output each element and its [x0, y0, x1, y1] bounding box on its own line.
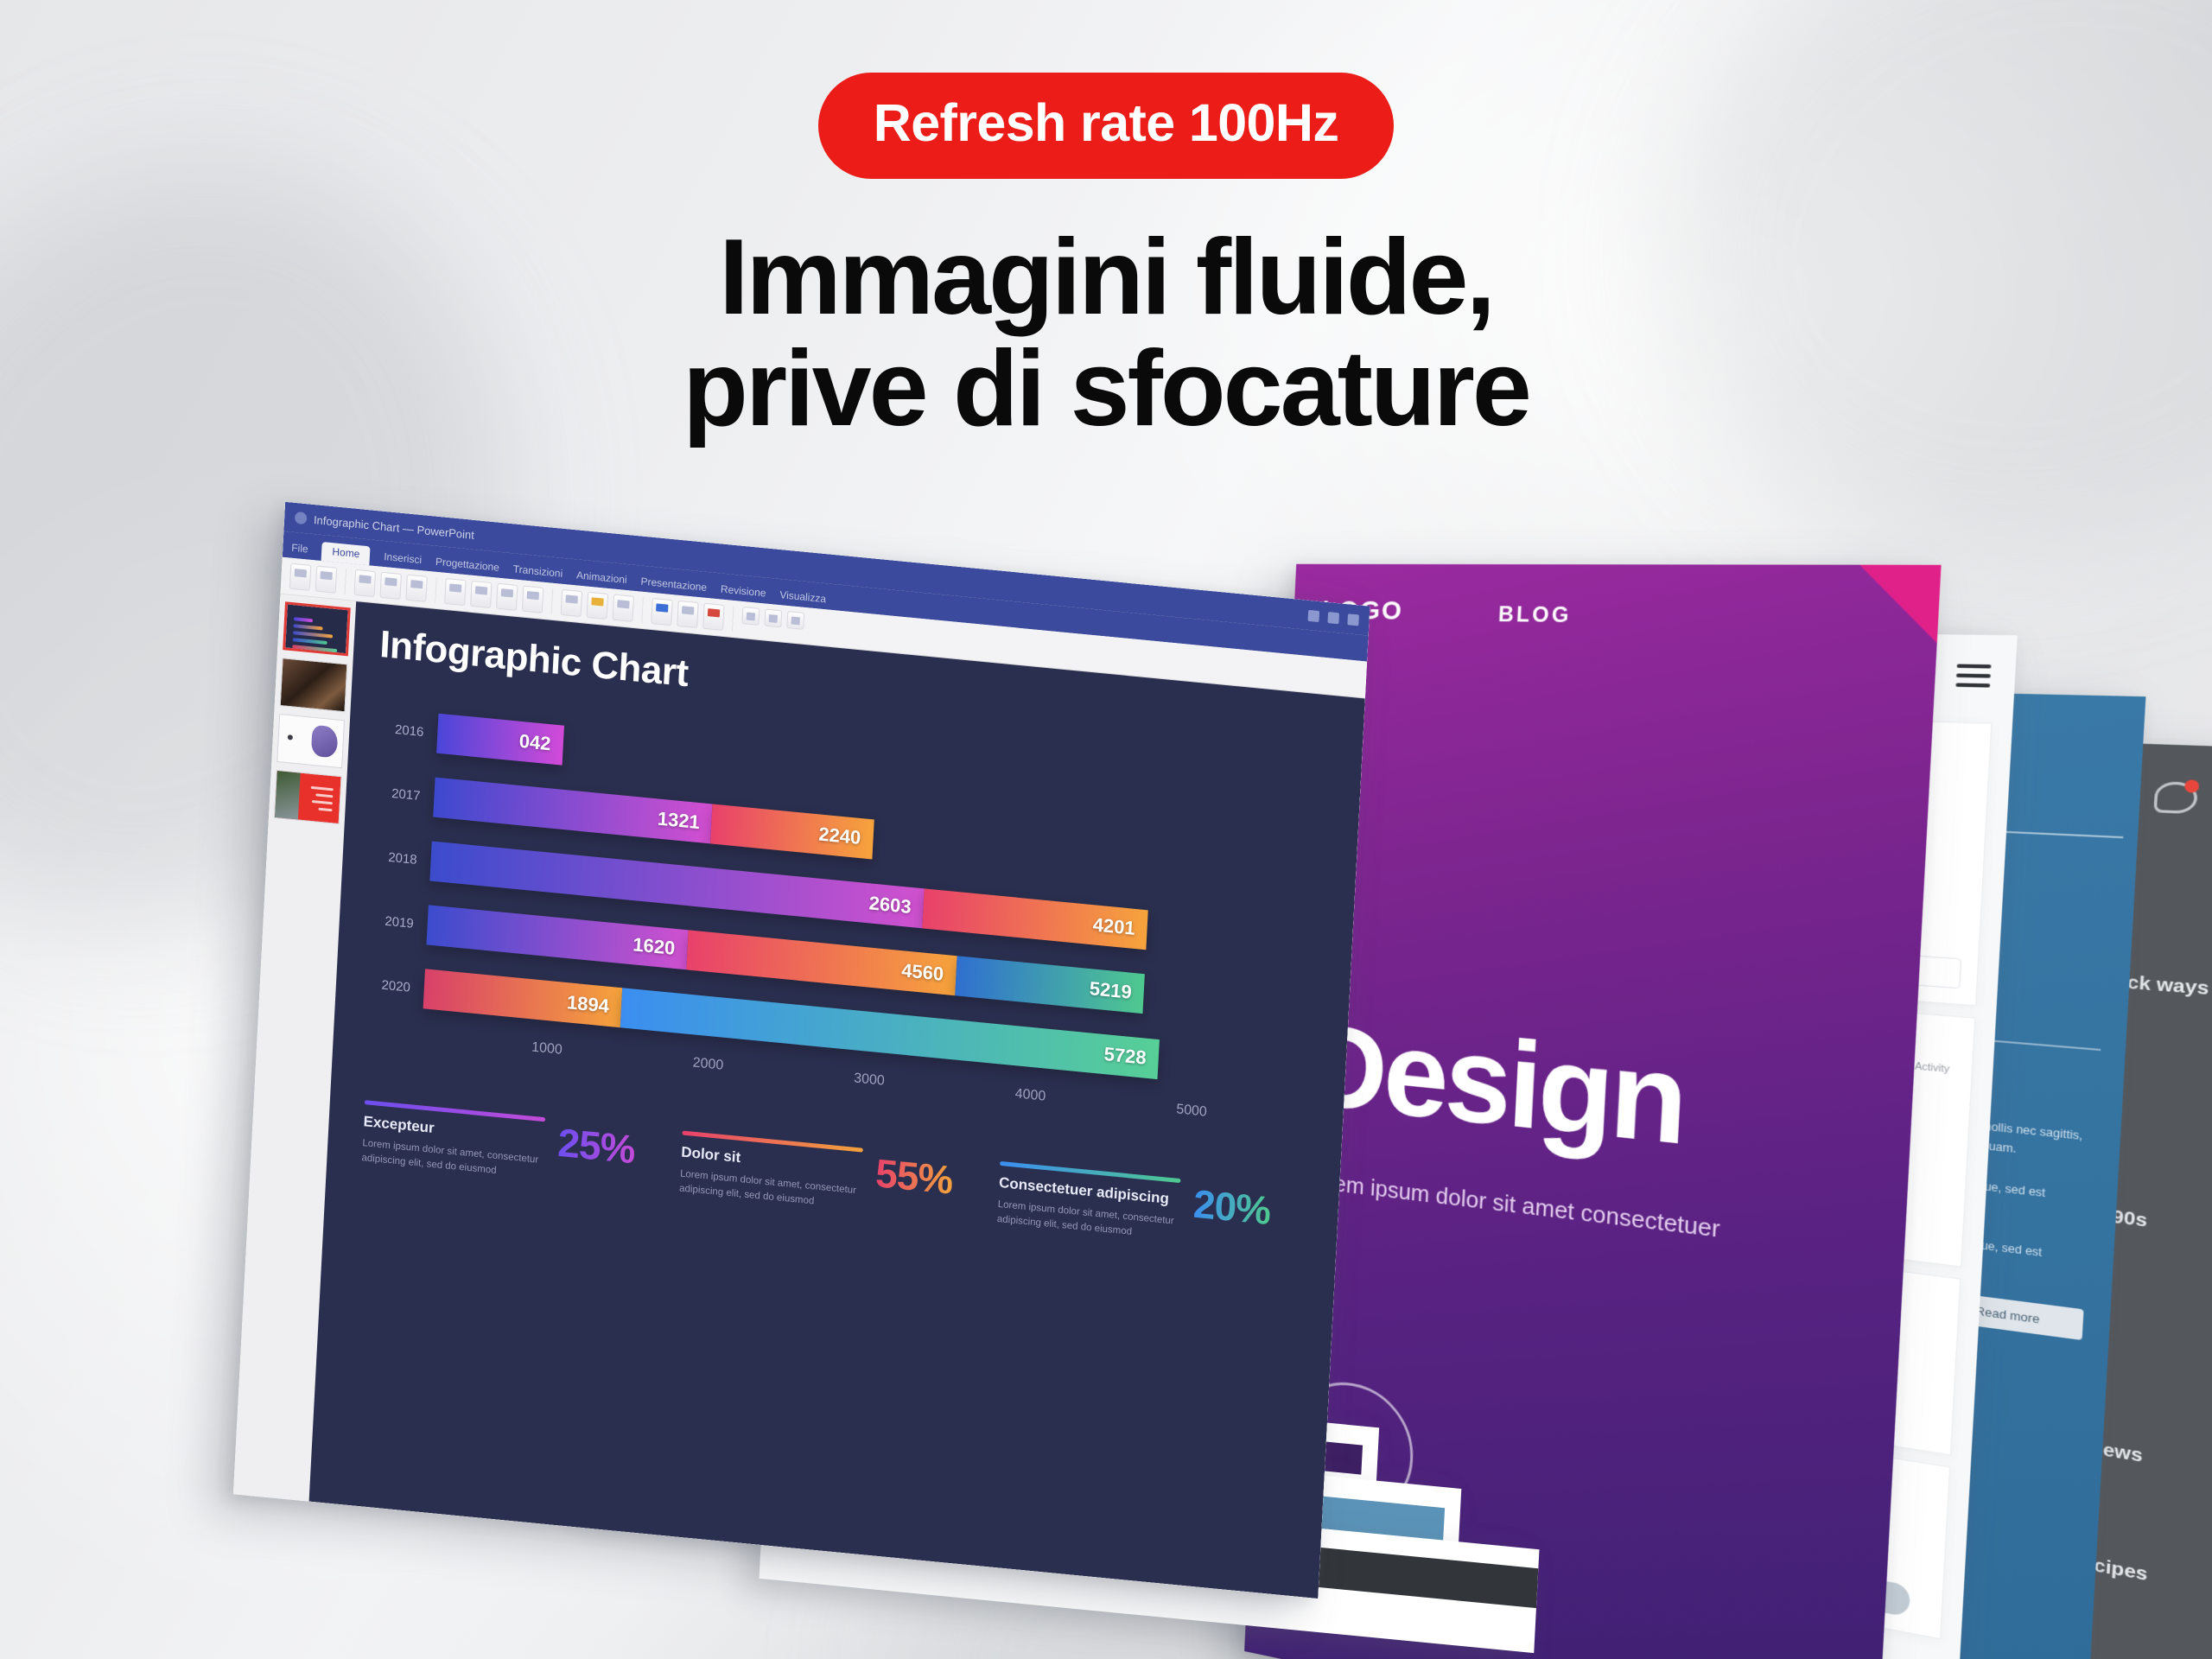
- cut-icon[interactable]: [315, 566, 337, 594]
- blog-hero-word: Design: [1303, 1009, 1688, 1159]
- bar-segment: 042: [436, 714, 563, 766]
- stat-percentage: 25%: [556, 1119, 636, 1173]
- headline-line-2: prive di sfocature: [0, 334, 2212, 445]
- shape-fill-icon[interactable]: [587, 592, 608, 620]
- y-axis-label: 2019: [365, 912, 429, 932]
- layout-icon[interactable]: [379, 572, 401, 600]
- shapes-icon[interactable]: [561, 589, 582, 617]
- stat-percentage: 20%: [1192, 1180, 1272, 1234]
- slide-thumbnail-2[interactable]: [280, 658, 348, 712]
- hero-header: Refresh rate 100Hz Immagini fluide, priv…: [0, 0, 2212, 445]
- blog-subtitle: Lorem ipsum dolor sit amet consectetuer: [1302, 1166, 1720, 1244]
- bar-value: 1321: [657, 807, 700, 834]
- tab-insert[interactable]: Inserisci: [384, 550, 423, 570]
- bar-value: 4201: [1092, 913, 1135, 940]
- minimize-icon[interactable]: [1308, 609, 1320, 621]
- bar-value: 042: [518, 730, 551, 755]
- screen-powerpoint[interactable]: Infographic Chart — PowerPoint File Home…: [233, 502, 1370, 1599]
- bar-value: 2240: [818, 823, 861, 849]
- ribbon-group-extra[interactable]: [741, 607, 813, 631]
- y-axis-label: 2016: [375, 720, 438, 741]
- slide-preview-photo: [281, 658, 347, 711]
- editor-body: Infographic Chart 2016 042: [233, 594, 1365, 1599]
- x-axis-tick: 2000: [692, 1055, 723, 1073]
- ribbon-group-slides[interactable]: [354, 569, 437, 603]
- chat-icon[interactable]: [2153, 781, 2198, 814]
- ribbon-group-editing[interactable]: [651, 598, 734, 632]
- align-left-icon[interactable]: [444, 578, 466, 606]
- radar-label: Activity: [1915, 1061, 1950, 1076]
- bar-segment: 2240: [710, 804, 874, 860]
- ribbon-group-paragraph[interactable]: [444, 578, 553, 614]
- infographic-bar-chart: 2016 042 2017: [357, 696, 1334, 1176]
- x-axis-tick: 1000: [531, 1039, 563, 1058]
- y-axis-label: 2017: [372, 784, 435, 804]
- bar-value: 4560: [901, 959, 944, 986]
- x-axis-tick: 3000: [854, 1071, 885, 1089]
- blog-nav-label[interactable]: BLOG: [1497, 602, 1572, 628]
- bar-value: 1894: [566, 991, 609, 1018]
- align-center-icon[interactable]: [470, 581, 492, 608]
- close-icon[interactable]: [1347, 613, 1359, 626]
- bold-icon[interactable]: [741, 607, 760, 626]
- headline-line-1: Immagini fluide,: [719, 218, 1493, 337]
- maximize-icon[interactable]: [1327, 612, 1339, 624]
- find-icon[interactable]: [651, 598, 672, 626]
- ribbon-group-clipboard[interactable]: [289, 563, 346, 594]
- stat-callout: Excepteur Lorem ipsum dolor sit amet, co…: [361, 1100, 636, 1192]
- tab-file[interactable]: File: [291, 542, 308, 560]
- ribbon-group-drawing[interactable]: [561, 589, 644, 623]
- slide-thumbnail-4[interactable]: [274, 770, 342, 824]
- menu-icon[interactable]: [1955, 664, 1992, 693]
- underline-icon[interactable]: [786, 611, 804, 630]
- stat-callout: Dolor sit Lorem ipsum dolor sit amet, co…: [679, 1131, 954, 1224]
- paste-icon[interactable]: [289, 563, 311, 591]
- slide-preview-white: [277, 715, 344, 767]
- refresh-rate-badge: Refresh rate 100Hz: [818, 73, 1394, 179]
- save-icon[interactable]: [295, 512, 308, 524]
- x-axis-tick: 4000: [1014, 1086, 1046, 1104]
- corner-accent: [1855, 565, 1941, 644]
- align-right-icon[interactable]: [496, 583, 518, 611]
- page-title: Immagini fluide, prive di sfocature: [0, 222, 2212, 445]
- x-axis-tick: 5000: [1176, 1102, 1207, 1120]
- new-slide-icon[interactable]: [354, 569, 376, 597]
- select-icon[interactable]: [702, 603, 724, 631]
- notification-dot: [2184, 779, 2199, 793]
- stat-callout: Consectetuer adipiscing Lorem ipsum dolo…: [996, 1161, 1271, 1254]
- reset-icon[interactable]: [405, 575, 427, 602]
- bar-segment: 4201: [922, 888, 1147, 950]
- stat-percentage: 55%: [874, 1149, 954, 1203]
- slide-preview-chart: [285, 604, 347, 653]
- slide-thumbnail-1[interactable]: [283, 601, 351, 656]
- bar-value: 5219: [1089, 977, 1132, 1004]
- replace-icon[interactable]: [677, 601, 698, 628]
- bar-segment: 5219: [955, 956, 1145, 1014]
- window-controls[interactable]: [1308, 609, 1359, 626]
- shape-outline-icon[interactable]: [612, 594, 633, 622]
- bar-value: 1620: [632, 933, 676, 960]
- slide-canvas[interactable]: Infographic Chart 2016 042: [309, 601, 1365, 1599]
- y-axis-label: 2018: [368, 848, 431, 868]
- y-axis-label: 2020: [362, 976, 425, 996]
- slide-thumbnail-3[interactable]: [276, 714, 345, 768]
- bullets-icon[interactable]: [522, 586, 543, 613]
- bar-value: 5728: [1103, 1043, 1147, 1070]
- bar-value: 2603: [868, 892, 912, 918]
- slide-preview-red: [275, 771, 341, 823]
- bar-segment: 1894: [423, 969, 622, 1027]
- screen-stack: Autoplay Blog Writing on Blog! Easy and …: [0, 518, 2212, 1659]
- italic-icon[interactable]: [764, 609, 782, 628]
